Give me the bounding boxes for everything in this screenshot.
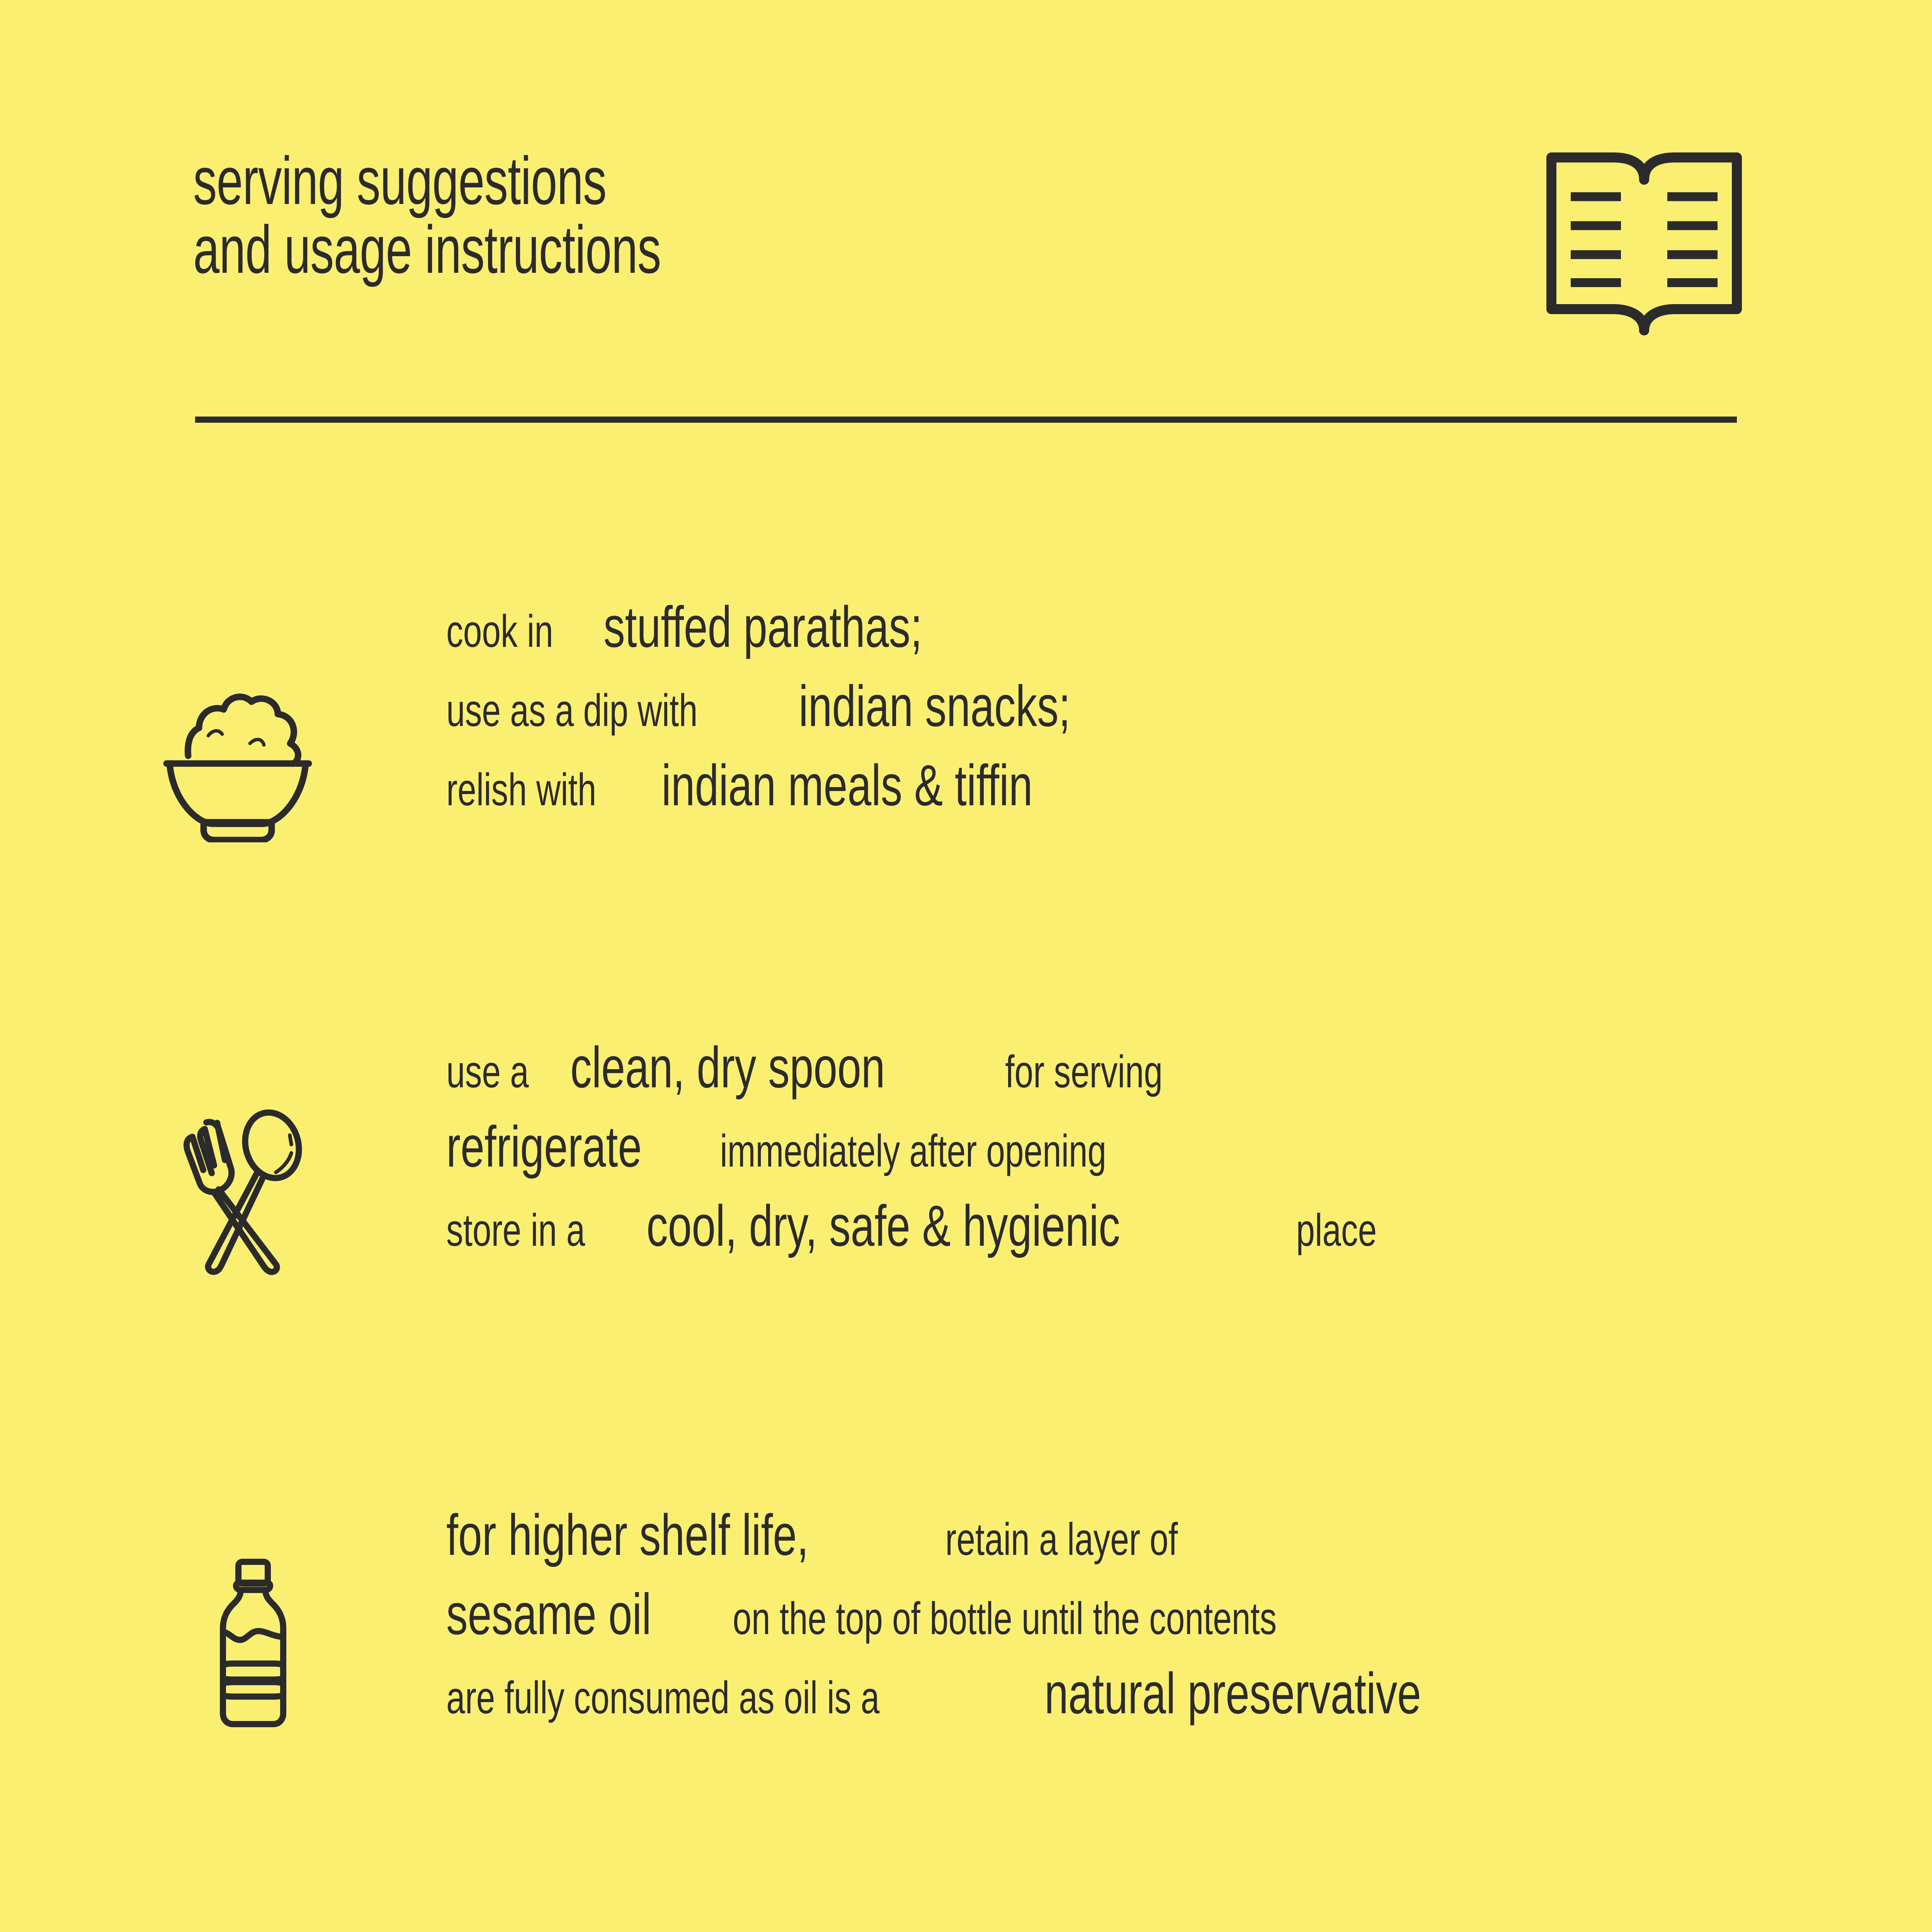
text-run: relish with <box>446 750 605 830</box>
text-run: use as a dip with <box>446 671 707 750</box>
instruction-text-serving: cook in stuffed parathas; use as a dip w… <box>446 587 1166 825</box>
text-run-emphasis: indian meals & tiffin <box>662 746 1032 825</box>
text-run-emphasis: clean, dry spoon <box>570 1028 885 1107</box>
instruction-line: cook in stuffed parathas; <box>446 587 1166 667</box>
header-divider <box>195 417 1737 423</box>
instruction-line: refrigerate immediately after opening <box>446 1107 1408 1186</box>
instruction-line: store in a cool, dry, safe & hygienic pl… <box>446 1186 1408 1265</box>
instruction-text-storage: use a clean, dry spoon for serving refri… <box>446 1028 1408 1265</box>
page-title-line-1: serving suggestions <box>193 147 978 216</box>
instruction-line: for higher shelf life, retain a layer of <box>446 1495 1553 1575</box>
card-header: serving suggestions and usage instructio… <box>0 0 1932 437</box>
rice-bowl-icon <box>160 680 315 842</box>
text-run-emphasis: refrigerate <box>446 1107 642 1186</box>
open-book-icon <box>1536 147 1752 340</box>
instruction-line: use a clean, dry spoon for serving <box>446 1028 1408 1107</box>
text-run-emphasis: natural preservative <box>1044 1654 1421 1733</box>
text-run: for serving <box>996 1032 1163 1112</box>
serving-suggestions-card: serving suggestions and usage instructio… <box>0 0 1932 1932</box>
instruction-line: sesame oil on the top of bottle until th… <box>446 1575 1553 1654</box>
page-title-line-2: and usage instructions <box>193 216 978 284</box>
text-run-emphasis: sesame oil <box>446 1575 651 1654</box>
oil-bottle-icon <box>211 1557 296 1735</box>
text-run: use a <box>446 1032 538 1112</box>
text-run: retain a layer of <box>936 1500 1178 1579</box>
text-run-emphasis: indian snacks; <box>799 667 1070 746</box>
fork-and-spoon-icon <box>170 1105 317 1275</box>
text-run-emphasis: stuffed parathas; <box>604 587 922 667</box>
instruction-line: are fully consumed as oil is a natural p… <box>446 1654 1553 1733</box>
text-run: place <box>1287 1191 1377 1270</box>
text-run-emphasis: cool, dry, safe & hygienic <box>646 1186 1120 1265</box>
instruction-text-shelf-life: for higher shelf life, retain a layer of… <box>446 1495 1553 1733</box>
text-run: store in a <box>446 1191 594 1270</box>
text-run: on the top of bottle until the contents <box>723 1579 1277 1658</box>
text-run: are fully consumed as oil is a <box>446 1658 889 1738</box>
page-title: serving suggestions and usage instructio… <box>193 147 1314 284</box>
text-run-emphasis: for higher shelf life, <box>446 1495 809 1575</box>
instruction-line: relish with indian meals & tiffin <box>446 746 1166 825</box>
text-run: immediately after opening <box>711 1112 1106 1191</box>
instruction-line: use as a dip with indian snacks; <box>446 667 1166 746</box>
text-run: cook in <box>446 592 563 671</box>
